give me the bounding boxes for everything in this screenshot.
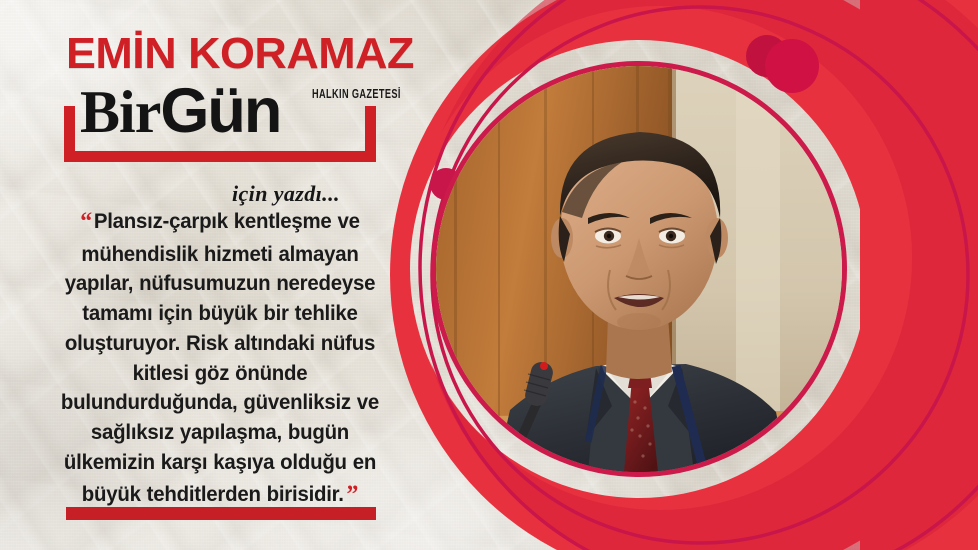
portrait-illustration <box>436 66 842 472</box>
logo-tagline: HALKIN GAZETESİ <box>312 88 401 102</box>
logo-word-bir: Bir <box>80 79 160 145</box>
page-title: EMİN KORAMAZ <box>66 32 414 76</box>
birgun-logo[interactable]: BirGün HALKIN GAZETESİ <box>60 84 390 164</box>
logo-word-gun: Gün <box>160 76 280 146</box>
poster-canvas: EMİN KORAMAZ BirGün HALKIN GAZETESİ için… <box>0 0 978 550</box>
speaker-portrait <box>436 66 842 472</box>
quote-open-mark: “ <box>80 208 92 235</box>
text-column: EMİN KORAMAZ BirGün HALKIN GAZETESİ için… <box>0 0 430 550</box>
logo-wordmark: BirGün <box>80 80 280 143</box>
quote-block: “Plansız-çarpık kentleşme ve mühendislik… <box>52 205 388 512</box>
bottom-rule-bar <box>66 507 376 520</box>
quote-body: Plansız-çarpık kentleşme ve mühendislik … <box>61 209 379 506</box>
arc-dot-top-large <box>765 39 819 93</box>
quote-close-mark: ” <box>347 481 359 508</box>
quote-text: “Plansız-çarpık kentleşme ve mühendislik… <box>60 205 379 512</box>
byline-text: için yazdı... <box>232 181 340 207</box>
